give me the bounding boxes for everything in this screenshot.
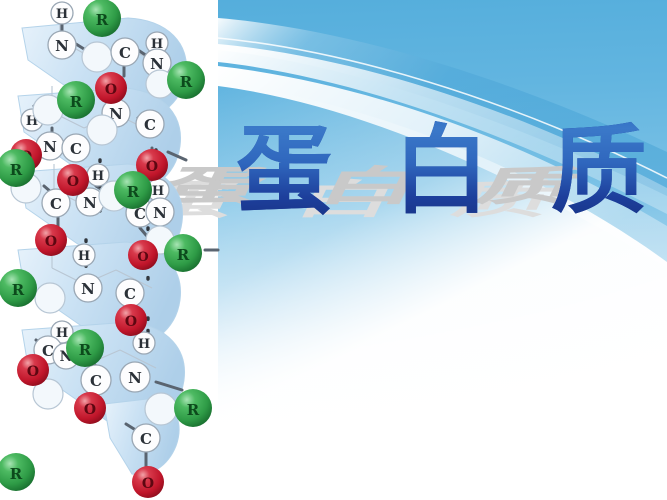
svg-text:C: C <box>90 372 102 390</box>
atom-hydrogen: H <box>87 164 109 186</box>
svg-text:R: R <box>10 465 23 483</box>
svg-text:R: R <box>12 281 25 299</box>
oxygen-sphere: O <box>17 354 49 386</box>
svg-text:O: O <box>142 476 154 492</box>
svg-text:C: C <box>144 116 156 134</box>
atom-carbon: C <box>132 424 160 452</box>
svg-text:C: C <box>70 140 82 158</box>
atom-carbon: C <box>81 365 111 395</box>
atom-nitrogen: N <box>74 274 102 302</box>
oxygen-sphere: O <box>132 466 164 498</box>
svg-text:O: O <box>45 234 57 250</box>
atom-alpha-carbon <box>145 393 177 425</box>
svg-text:C: C <box>140 430 152 448</box>
sidechain-sphere: R <box>164 234 202 272</box>
sidechain-sphere: R <box>167 61 205 99</box>
svg-text:O: O <box>146 159 158 175</box>
slide-title-group: 蛋 白 质 蛋 白 质 蛋 白 质 蛋 白 质 <box>236 112 656 242</box>
atom-nitrogen: N <box>48 31 76 59</box>
atom-alpha-carbon <box>82 42 112 72</box>
svg-text:R: R <box>10 161 23 179</box>
atom-carbon: C <box>111 38 139 66</box>
svg-text:H: H <box>138 337 150 352</box>
sidechain-sphere: R <box>0 453 35 491</box>
swoosh-decoration-group <box>218 0 667 500</box>
svg-text:O: O <box>125 314 137 330</box>
svg-text:N: N <box>128 369 142 387</box>
alpha-helix-illustration: H N C H N H N C H N C H N C C H N <box>0 0 225 500</box>
svg-text:O: O <box>84 402 96 418</box>
background-blue-panel <box>218 0 667 500</box>
oxygen-sphere: O <box>57 164 89 196</box>
svg-text:C: C <box>124 285 136 303</box>
atom-carbon: C <box>136 110 164 138</box>
atom-hydrogen: H <box>133 332 155 354</box>
atom-alpha-carbon <box>35 283 65 313</box>
atom-nitrogen: N <box>120 362 150 392</box>
svg-text:N: N <box>81 280 95 298</box>
atom-carbon: C <box>116 279 144 307</box>
atom-hydrogen: H <box>51 2 73 24</box>
atom-alpha-carbon <box>87 115 117 145</box>
svg-text:O: O <box>105 82 117 98</box>
svg-text:N: N <box>153 204 167 222</box>
svg-text:R: R <box>180 73 193 91</box>
svg-text:H: H <box>56 7 68 22</box>
svg-text:N: N <box>55 37 69 55</box>
svg-text:C: C <box>119 44 131 62</box>
svg-text:R: R <box>79 341 92 359</box>
svg-text:R: R <box>187 401 200 419</box>
svg-text:R: R <box>70 93 83 111</box>
oxygen-sphere: O <box>115 304 147 336</box>
svg-text:O: O <box>67 174 79 190</box>
sidechain-sphere: R <box>114 171 152 209</box>
sidechain-sphere: R <box>83 0 121 37</box>
svg-text:C: C <box>50 195 62 213</box>
svg-text:H: H <box>152 184 164 199</box>
svg-text:N: N <box>43 138 57 156</box>
svg-text:R: R <box>177 246 190 264</box>
sidechain-sphere: R <box>66 329 104 367</box>
svg-text:H: H <box>92 169 104 184</box>
svg-text:R: R <box>127 183 140 201</box>
oxygen-sphere: O <box>74 392 106 424</box>
svg-text:O: O <box>27 364 39 380</box>
sidechain-sphere: R <box>57 81 95 119</box>
atom-nitrogen: N <box>146 198 174 226</box>
oxygen-sphere: O <box>35 224 67 256</box>
oxygen-sphere: O <box>128 240 158 270</box>
sidechain-sphere: R <box>0 269 37 307</box>
slide-canvas: 蛋 白 质 蛋 白 质 蛋 白 质 蛋 白 质 <box>0 0 667 500</box>
atom-hydrogen: H <box>73 244 95 266</box>
svg-text:N: N <box>83 194 97 212</box>
svg-text:R: R <box>96 11 109 29</box>
svg-text:H: H <box>56 326 68 341</box>
page-title: 蛋 白 质 <box>236 112 656 230</box>
atom-carbon: C <box>62 134 90 162</box>
svg-text:C: C <box>42 342 54 360</box>
sidechain-sphere: R <box>174 389 212 427</box>
oxygen-sphere: O <box>95 72 127 104</box>
svg-text:O: O <box>137 250 148 265</box>
svg-text:H: H <box>78 249 90 264</box>
